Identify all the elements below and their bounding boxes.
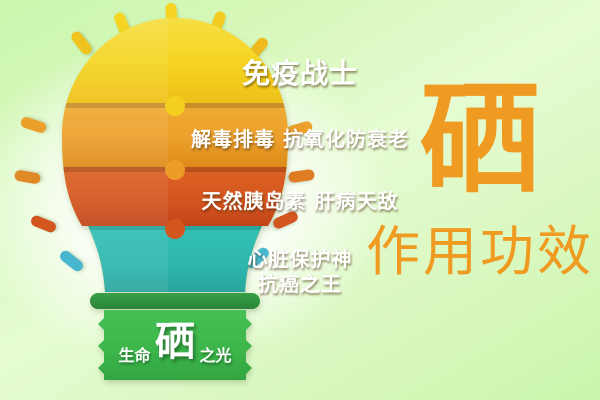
headline-subtitle: 作用功效 (360, 222, 600, 281)
ray-left-lower (29, 214, 57, 234)
band-notch-3 (165, 219, 185, 239)
band-notch-2 (165, 160, 185, 180)
base-caption-suffix: 之光 (199, 346, 231, 365)
ray-top-right-mid (208, 10, 227, 38)
ray-top-left-mid (113, 11, 133, 39)
bulb-base-caption: 生命 硒 之光 (0, 322, 350, 364)
poster-canvas: 免疫战士 解毒排毒 抗氧化防衰老 天然胰岛素 肝病天敌 心脏保护神 抗癌之王 生… (0, 0, 600, 400)
headline-block: 硒 作用功效 (360, 78, 600, 281)
base-caption-prefix: 生命 (119, 346, 151, 365)
ray-right-mid (288, 169, 315, 184)
ray-top-center (165, 3, 178, 30)
band-notch-1 (165, 96, 185, 116)
headline-big-char: 硒 (360, 78, 600, 204)
base-caption-big-char: 硒 (155, 319, 195, 365)
ray-left-mid (14, 169, 42, 184)
